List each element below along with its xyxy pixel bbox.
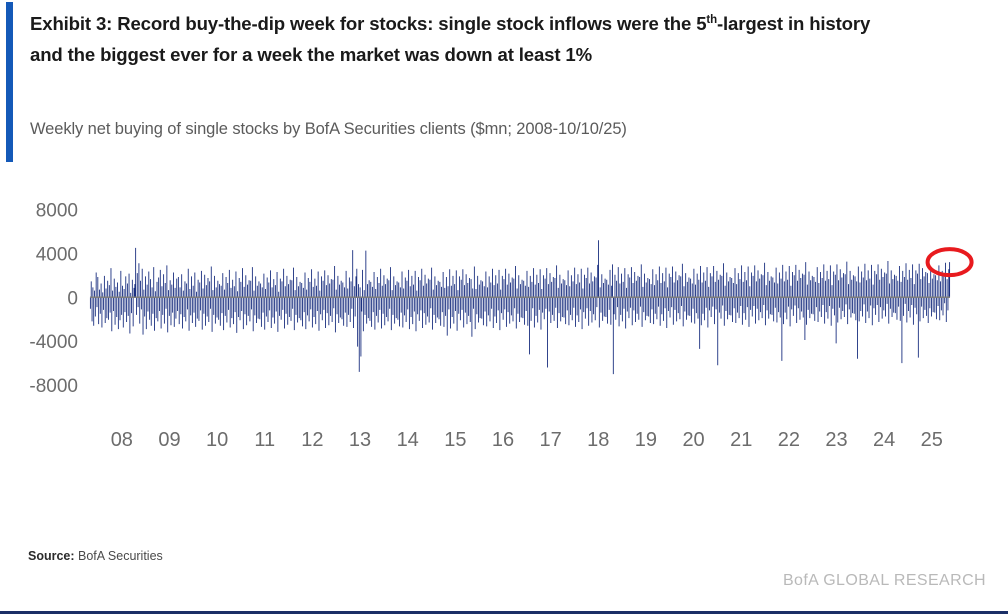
x-axis-tick-labels: 080910111213141516171819202122232425 — [111, 429, 943, 451]
x-tick-label: 15 — [444, 429, 466, 451]
x-tick-label: 16 — [492, 429, 514, 451]
x-tick-label: 08 — [111, 429, 133, 451]
exhibit-header: Exhibit 3: Record buy-the-dip week for s… — [0, 0, 1008, 168]
y-tick-label: 0 — [67, 288, 78, 309]
exhibit-subtitle: Weekly net buying of single stocks by Bo… — [30, 120, 627, 139]
y-tick-label: -4000 — [29, 332, 78, 353]
x-tick-label: 19 — [635, 429, 657, 451]
y-tick-label: 4000 — [36, 244, 78, 265]
x-tick-label: 10 — [206, 429, 228, 451]
x-tick-label: 23 — [825, 429, 847, 451]
bar-path — [90, 240, 950, 374]
x-tick-label: 21 — [730, 429, 752, 451]
x-tick-label: 18 — [587, 429, 609, 451]
bar-series — [90, 240, 950, 374]
x-tick-label: 09 — [158, 429, 180, 451]
x-tick-label: 24 — [873, 429, 895, 451]
title-text-post: -largest in history — [717, 13, 870, 34]
exhibit-title-line-2: and the biggest ever for a week the mark… — [30, 39, 1002, 70]
accent-stripe — [6, 2, 13, 162]
title-superscript: th — [706, 14, 717, 26]
x-tick-label: 20 — [682, 429, 704, 451]
x-tick-label: 12 — [301, 429, 323, 451]
x-tick-label: 14 — [397, 429, 419, 451]
source-label: Source: — [28, 549, 75, 563]
source-value: BofA Securities — [75, 549, 163, 563]
title-wrapper: Exhibit 3: Record buy-the-dip week for s… — [30, 8, 1002, 70]
x-tick-label: 25 — [921, 429, 943, 451]
y-tick-label: 8000 — [36, 200, 78, 221]
brand-watermark: BofA GLOBAL RESEARCH — [783, 572, 986, 590]
x-tick-label: 22 — [778, 429, 800, 451]
title-text-pre: Exhibit 3: Record buy-the-dip week for s… — [30, 13, 706, 34]
weekly-net-buying-bar-chart: 800040000-4000-8000 08091011121314151617… — [0, 175, 1008, 465]
chart-area: 800040000-4000-8000 08091011121314151617… — [0, 175, 1008, 465]
y-axis-tick-labels: 800040000-4000-8000 — [29, 200, 78, 397]
y-tick-label: -8000 — [29, 376, 78, 397]
x-tick-label: 13 — [349, 429, 371, 451]
x-tick-label: 11 — [254, 429, 275, 451]
exhibit-title-line-1: Exhibit 3: Record buy-the-dip week for s… — [30, 8, 1002, 39]
x-tick-label: 17 — [540, 429, 562, 451]
exhibit-container: Exhibit 3: Record buy-the-dip week for s… — [0, 0, 1008, 614]
source-note: Source: BofA Securities — [28, 549, 163, 563]
